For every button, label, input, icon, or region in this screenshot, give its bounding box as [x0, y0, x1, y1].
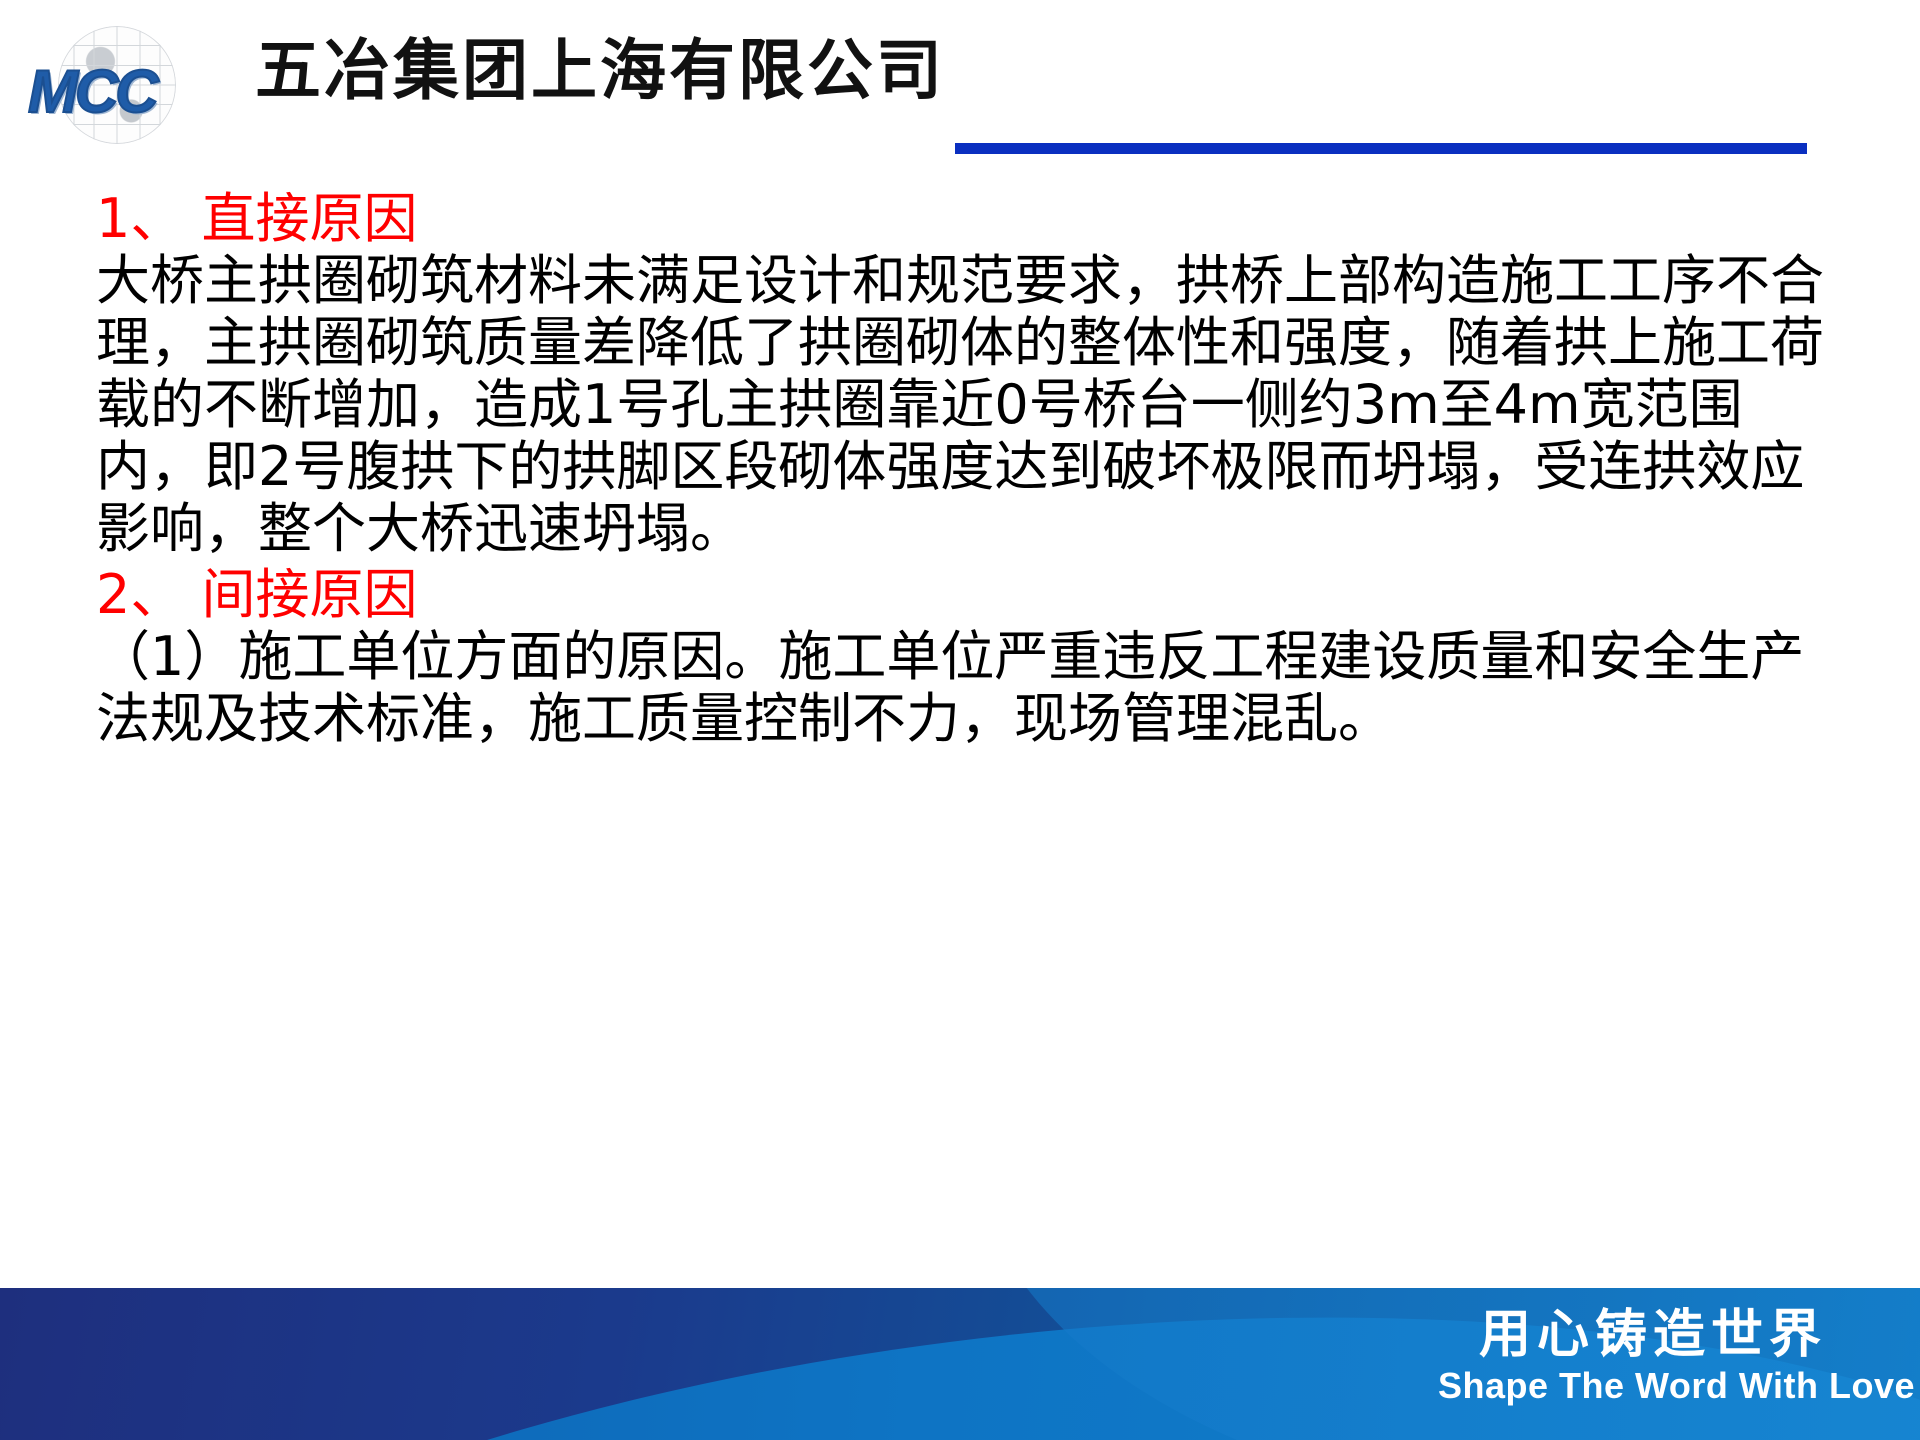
mcc-wordmark: MCC: [28, 62, 218, 122]
company-name: 五冶集团上海有限公司: [255, 38, 945, 104]
slide-header: MCC 五冶集团上海有限公司: [0, 0, 1920, 175]
mcc-logo: MCC: [28, 22, 218, 144]
header-underline: [955, 143, 1807, 154]
section-heading-1: 1、 直接原因: [96, 188, 1836, 250]
slogan-english: Shape The Word With Love: [1438, 1366, 1868, 1406]
slogan-chinese: 用心铸造世界: [1438, 1306, 1868, 1364]
slide-content: 1、 直接原因 大桥主拱圈砌筑材料未满足设计和规范要求，拱桥上部构造施工工序不合…: [96, 176, 1836, 750]
section-paragraph-1: 大桥主拱圈砌筑材料未满足设计和规范要求，拱桥上部构造施工工序不合理，主拱圈砌筑质…: [96, 250, 1836, 560]
section-paragraph-2: （1）施工单位方面的原因。施工单位严重违反工程建设质量和安全生产法规及技术标准，…: [96, 626, 1836, 750]
footer-slogan: 用心铸造世界 Shape The Word With Love: [1438, 1306, 1868, 1406]
section-heading-2: 2、 间接原因: [96, 564, 1836, 626]
slide-footer: 用心铸造世界 Shape The Word With Love: [0, 1288, 1920, 1440]
